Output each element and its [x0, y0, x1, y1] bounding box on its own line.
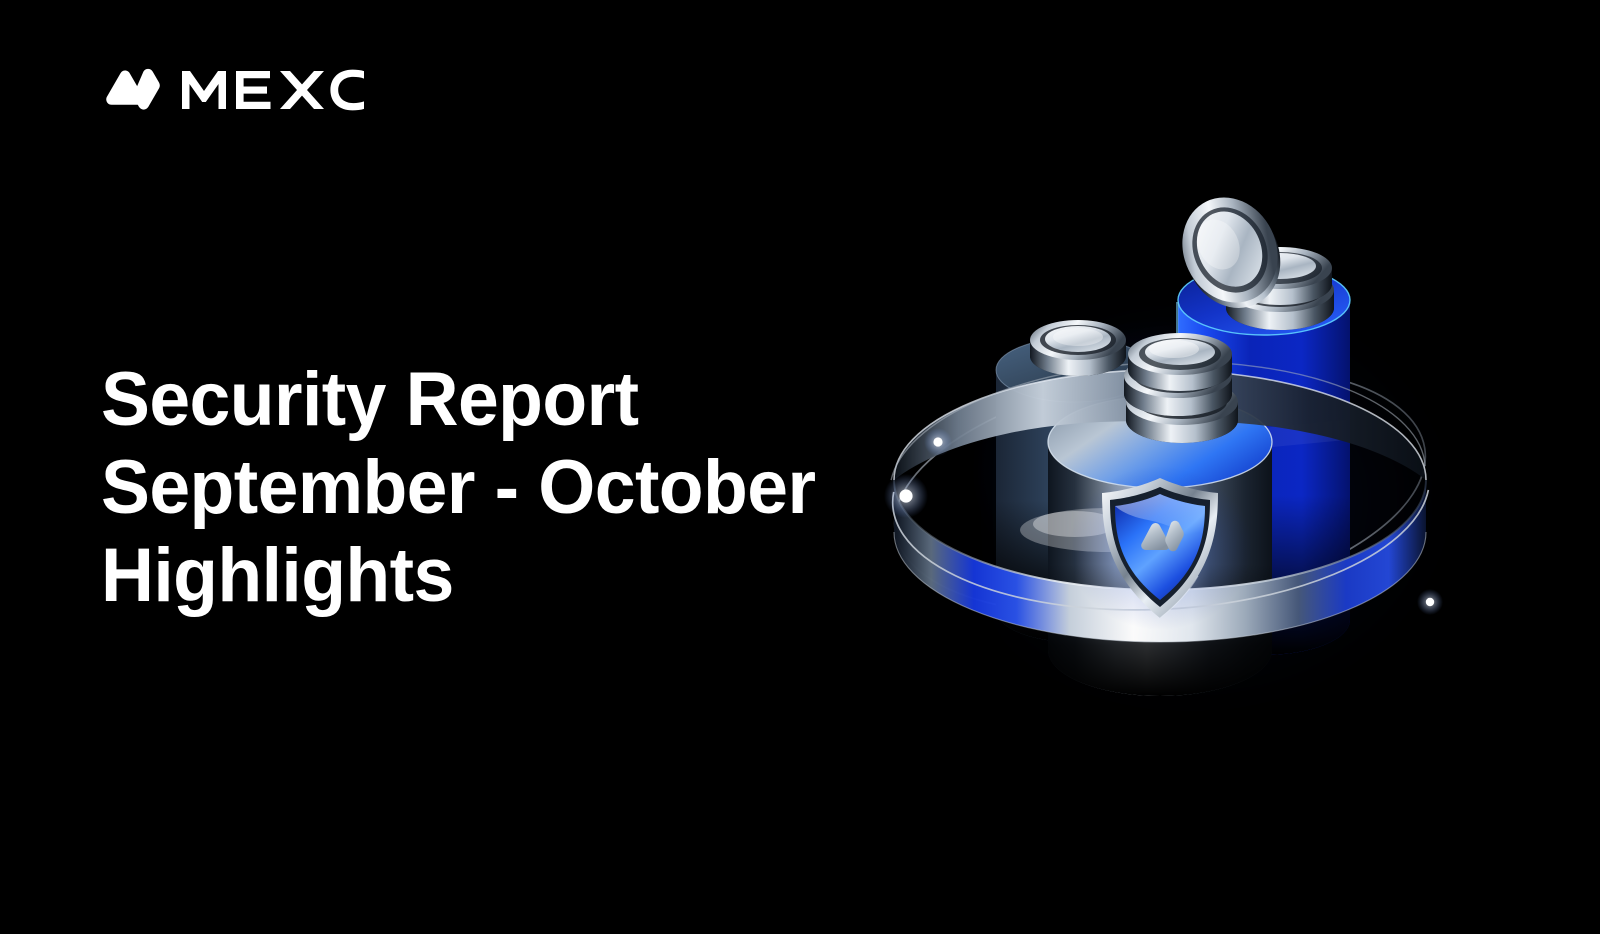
- orbit-dot-large: [884, 474, 928, 518]
- coin-stack-center: [1124, 333, 1238, 443]
- shield-badge: [1068, 466, 1252, 630]
- headline-line-1: Security Report: [101, 356, 912, 444]
- coin-single-left: [1030, 320, 1126, 376]
- page-title: Security Report September - October High…: [101, 356, 941, 620]
- security-report-banner: Security Report September - October High…: [0, 0, 1600, 934]
- 3d-vault-security-illustration: [860, 180, 1480, 740]
- headline-line-3: Highlights: [101, 532, 912, 620]
- headline-line-2: September - October: [101, 444, 912, 532]
- orbit-dot-small-upper: [924, 428, 952, 456]
- mexc-logo[interactable]: [100, 68, 366, 112]
- orbit-dot-small-lower-right: [1417, 589, 1443, 615]
- mexc-triangle-mark-icon: [100, 68, 162, 112]
- mexc-wordmark: [180, 69, 366, 111]
